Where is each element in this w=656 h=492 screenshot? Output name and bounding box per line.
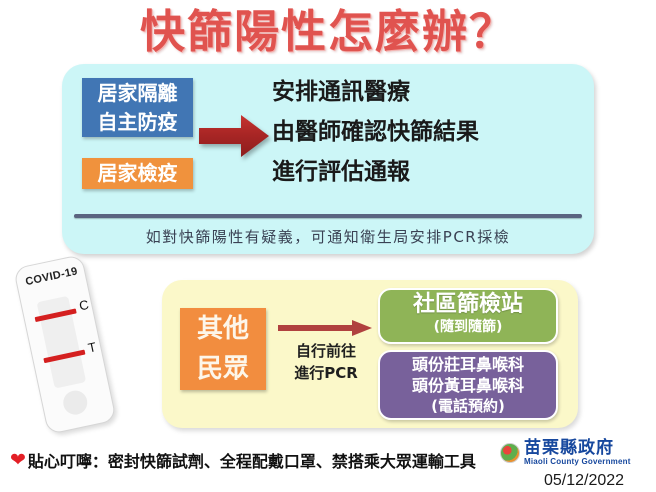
self-go-pcr-line-2: 進行PCR	[274, 362, 378, 384]
self-go-pcr-line-1: 自行前往	[274, 340, 378, 362]
community-testing-station-title: 社區篩檢站	[380, 290, 556, 319]
control-line-letter: C	[78, 297, 90, 314]
other-public-line-1: 其他	[197, 314, 249, 344]
page-title: 快篩陽性怎麼辦？	[0, 6, 656, 58]
government-names: 苗栗縣政府 Miaoli County Government	[524, 440, 631, 466]
infographic-poster: 快篩陽性怎麼辦？ 居家隔離 自主防疫 居家檢疫 安排通訊醫療 由醫師確認快篩結果…	[0, 0, 656, 492]
test-line-letter: T	[87, 339, 98, 355]
action-item-1: 安排通訊醫療	[272, 72, 582, 112]
test-kit-result-window	[37, 296, 87, 389]
other-public-line-2: 民眾	[197, 354, 249, 384]
clinic-list-box: 頭份莊耳鼻喉科 頭份黃耳鼻喉科 (電話預約)	[378, 350, 558, 420]
government-name-zh: 苗栗縣政府	[524, 440, 631, 457]
panel-divider	[74, 214, 582, 218]
footer-reminder-text: 貼心叮嚀：密封快篩試劑、全程配戴口罩、禁搭乘大眾運輸工具	[28, 448, 476, 472]
rapid-test-kit-illustration: COVID-19 C T	[0, 247, 149, 440]
action-list: 安排通訊醫療 由醫師確認快篩結果 進行評估通報	[272, 72, 582, 192]
clinic-name-1: 頭份莊耳鼻喉科	[380, 354, 556, 375]
government-branding: 苗栗縣政府 Miaoli County Government 05/12/202…	[500, 440, 650, 490]
pcr-note: 如對快篩陽性有疑義，可通知衛生局安排PCR採檢	[62, 224, 594, 250]
self-go-pcr-caption: 自行前往 進行PCR	[274, 340, 378, 384]
home-isolation-line-2: 自主防疫	[98, 110, 178, 134]
right-arrow-icon	[197, 112, 271, 160]
government-name-en: Miaoli County Government	[524, 458, 631, 466]
right-arrow-icon	[278, 320, 372, 336]
community-testing-station-subtitle: (隨到隨篩)	[380, 319, 556, 336]
sample-well	[61, 388, 89, 416]
publish-date: 05/12/2022	[500, 472, 650, 490]
footer-reminder: ❤ 貼心叮嚀：密封快篩試劑、全程配戴口罩、禁搭乘大眾運輸工具	[10, 448, 476, 472]
test-kit-body: COVID-19 C T	[13, 254, 117, 435]
test-kit-label: COVID-19	[23, 265, 80, 288]
heart-icon: ❤	[10, 451, 26, 470]
clinic-booking-note: (電話預約)	[380, 396, 556, 417]
other-public-box: 其他 民眾	[180, 308, 266, 390]
action-item-2: 由醫師確認快篩結果	[272, 112, 582, 152]
action-item-3: 進行評估通報	[272, 152, 582, 192]
community-testing-station-box: 社區篩檢站 (隨到隨篩)	[378, 288, 558, 344]
home-quarantine-box: 居家檢疫	[82, 158, 193, 189]
home-isolation-box: 居家隔離 自主防疫	[82, 78, 193, 137]
quarantine-panel: 居家隔離 自主防疫 居家檢疫 安排通訊醫療 由醫師確認快篩結果 進行評估通報 如…	[62, 64, 594, 254]
general-public-panel: 其他 民眾 自行前往 進行PCR 社區篩檢站 (隨到隨篩) 頭份莊耳鼻喉科 頭份…	[162, 280, 578, 428]
home-isolation-line-1: 居家隔離	[98, 81, 178, 105]
clinic-name-2: 頭份黃耳鼻喉科	[380, 375, 556, 396]
government-logo-row: 苗栗縣政府 Miaoli County Government	[500, 440, 650, 466]
miaoli-emblem-icon	[500, 443, 520, 463]
